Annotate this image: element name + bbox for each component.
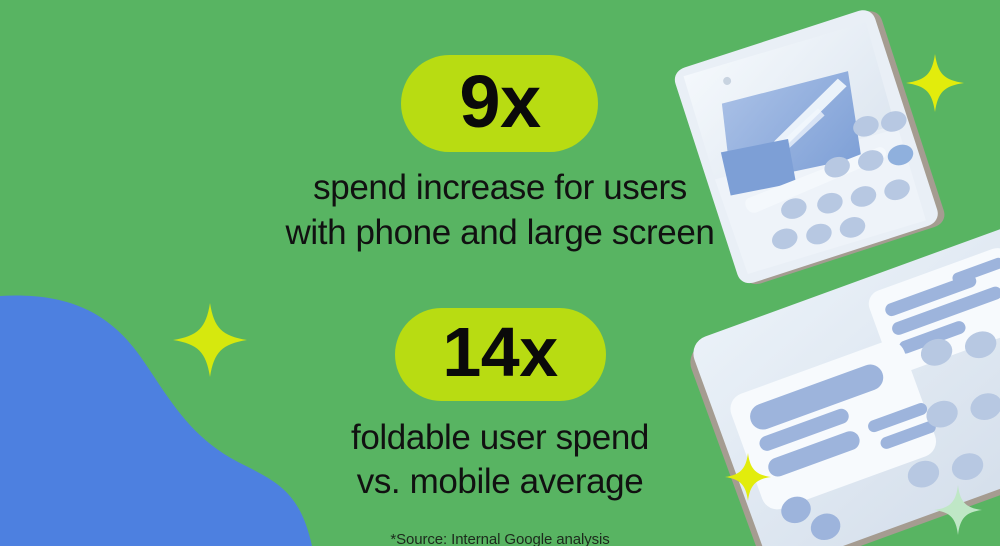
content-column: 9x spend increase for users with phone a…: [0, 0, 1000, 546]
stat-badge-9x-value: 9x: [459, 65, 540, 139]
stat-caption-9x-line-1: spend increase for users: [286, 166, 715, 211]
stat-caption-14x-line-2: vs. mobile average: [351, 460, 649, 505]
stat-badge-9x: 9x: [401, 55, 598, 152]
stat-caption-14x: foldable user spend vs. mobile average: [351, 416, 649, 506]
stat-caption-14x-line-1: foldable user spend: [351, 416, 649, 461]
promo-graphic: 9x spend increase for users with phone a…: [0, 0, 1000, 546]
source-note: *Source: Internal Google analysis: [390, 531, 609, 546]
stat-caption-9x: spend increase for users with phone and …: [286, 166, 715, 256]
stat-block-14x: 14x foldable user spend vs. mobile avera…: [351, 256, 649, 506]
stat-badge-14x: 14x: [395, 308, 606, 401]
stat-block-9x: 9x spend increase for users with phone a…: [286, 0, 715, 256]
stat-badge-14x-value: 14x: [442, 317, 557, 387]
stat-caption-9x-line-2: with phone and large screen: [286, 211, 715, 256]
